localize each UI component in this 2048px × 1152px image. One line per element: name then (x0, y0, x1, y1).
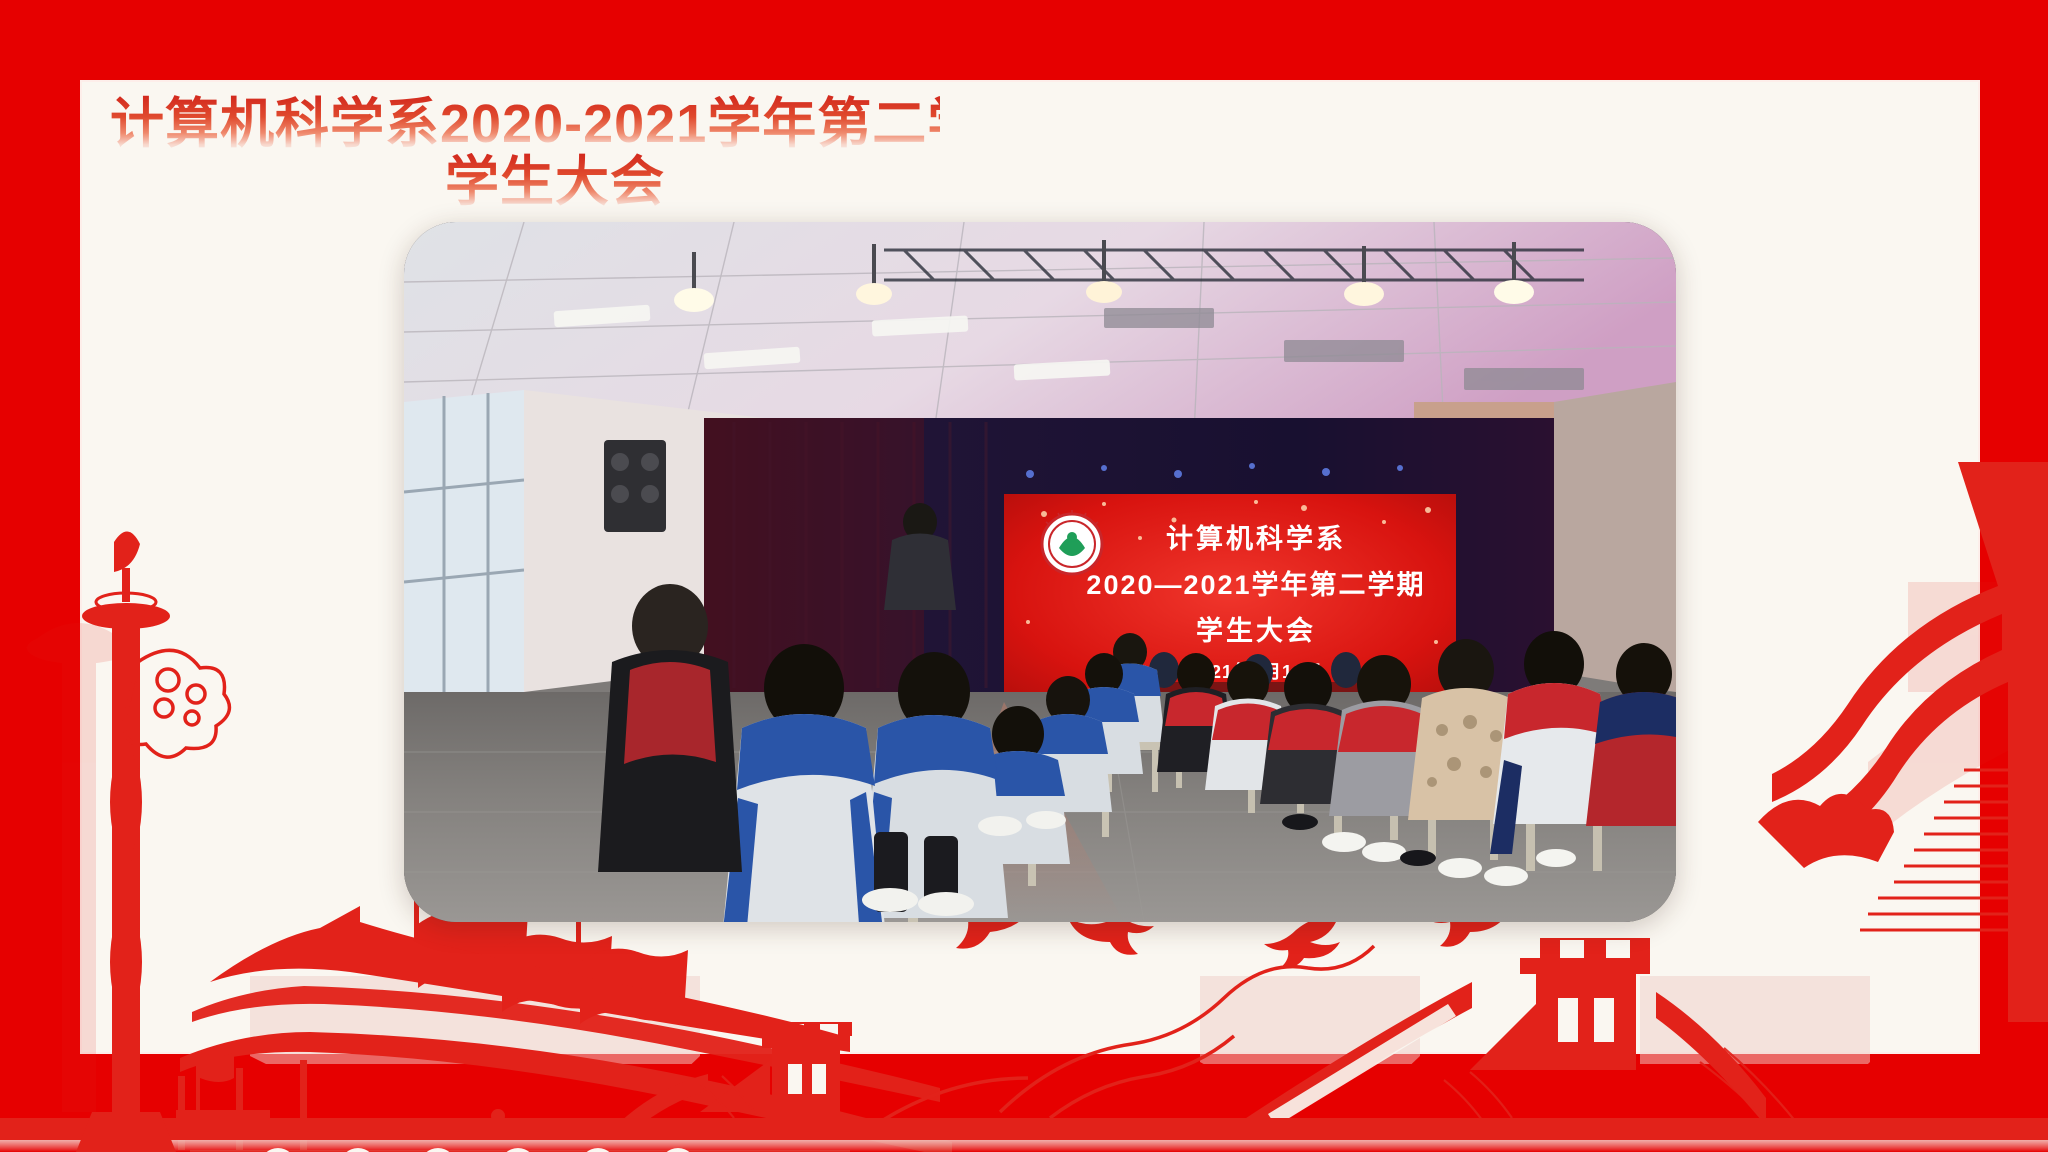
led-line-1: 计算机科学系 (1166, 523, 1346, 554)
led-line-3: 学生大会 (1196, 615, 1316, 646)
presentation-slide: 计算机科学系2020-2021学年第二学期 学生大会 (0, 0, 2048, 1152)
student-assembly-photo: 计算机科学系 2020—2021学年第二学期 学生大会 2021年1月16日 (404, 222, 1676, 922)
led-line-2: 2020—2021学年第二学期 (1086, 569, 1425, 600)
ground-baseline (0, 1118, 2048, 1140)
